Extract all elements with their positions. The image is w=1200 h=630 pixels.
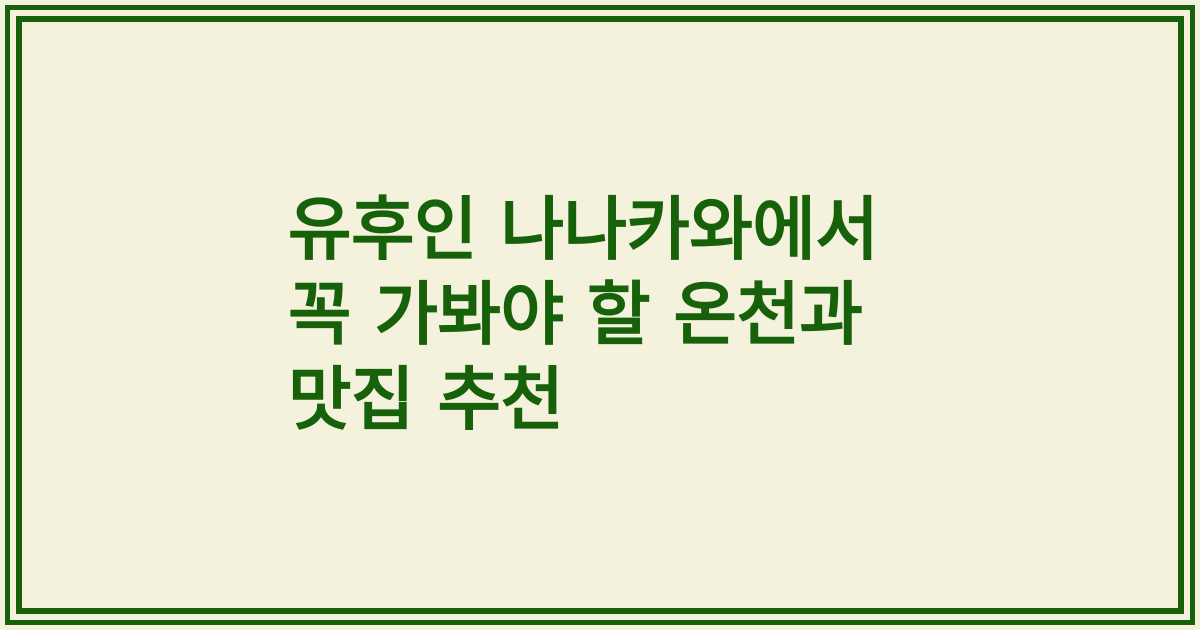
headline-line-3: 맛집 추천 (288, 358, 878, 443)
thumbnail-card: 유후인 나나카와에서 꼭 가봐야 할 온천과 맛집 추천 (0, 0, 1200, 630)
headline-line-2: 꼭 가봐야 할 온천과 (288, 273, 878, 358)
headline-line-1: 유후인 나나카와에서 (288, 188, 878, 273)
headline-container: 유후인 나나카와에서 꼭 가봐야 할 온천과 맛집 추천 (22, 22, 1178, 608)
page-title: 유후인 나나카와에서 꼭 가봐야 할 온천과 맛집 추천 (288, 188, 878, 443)
